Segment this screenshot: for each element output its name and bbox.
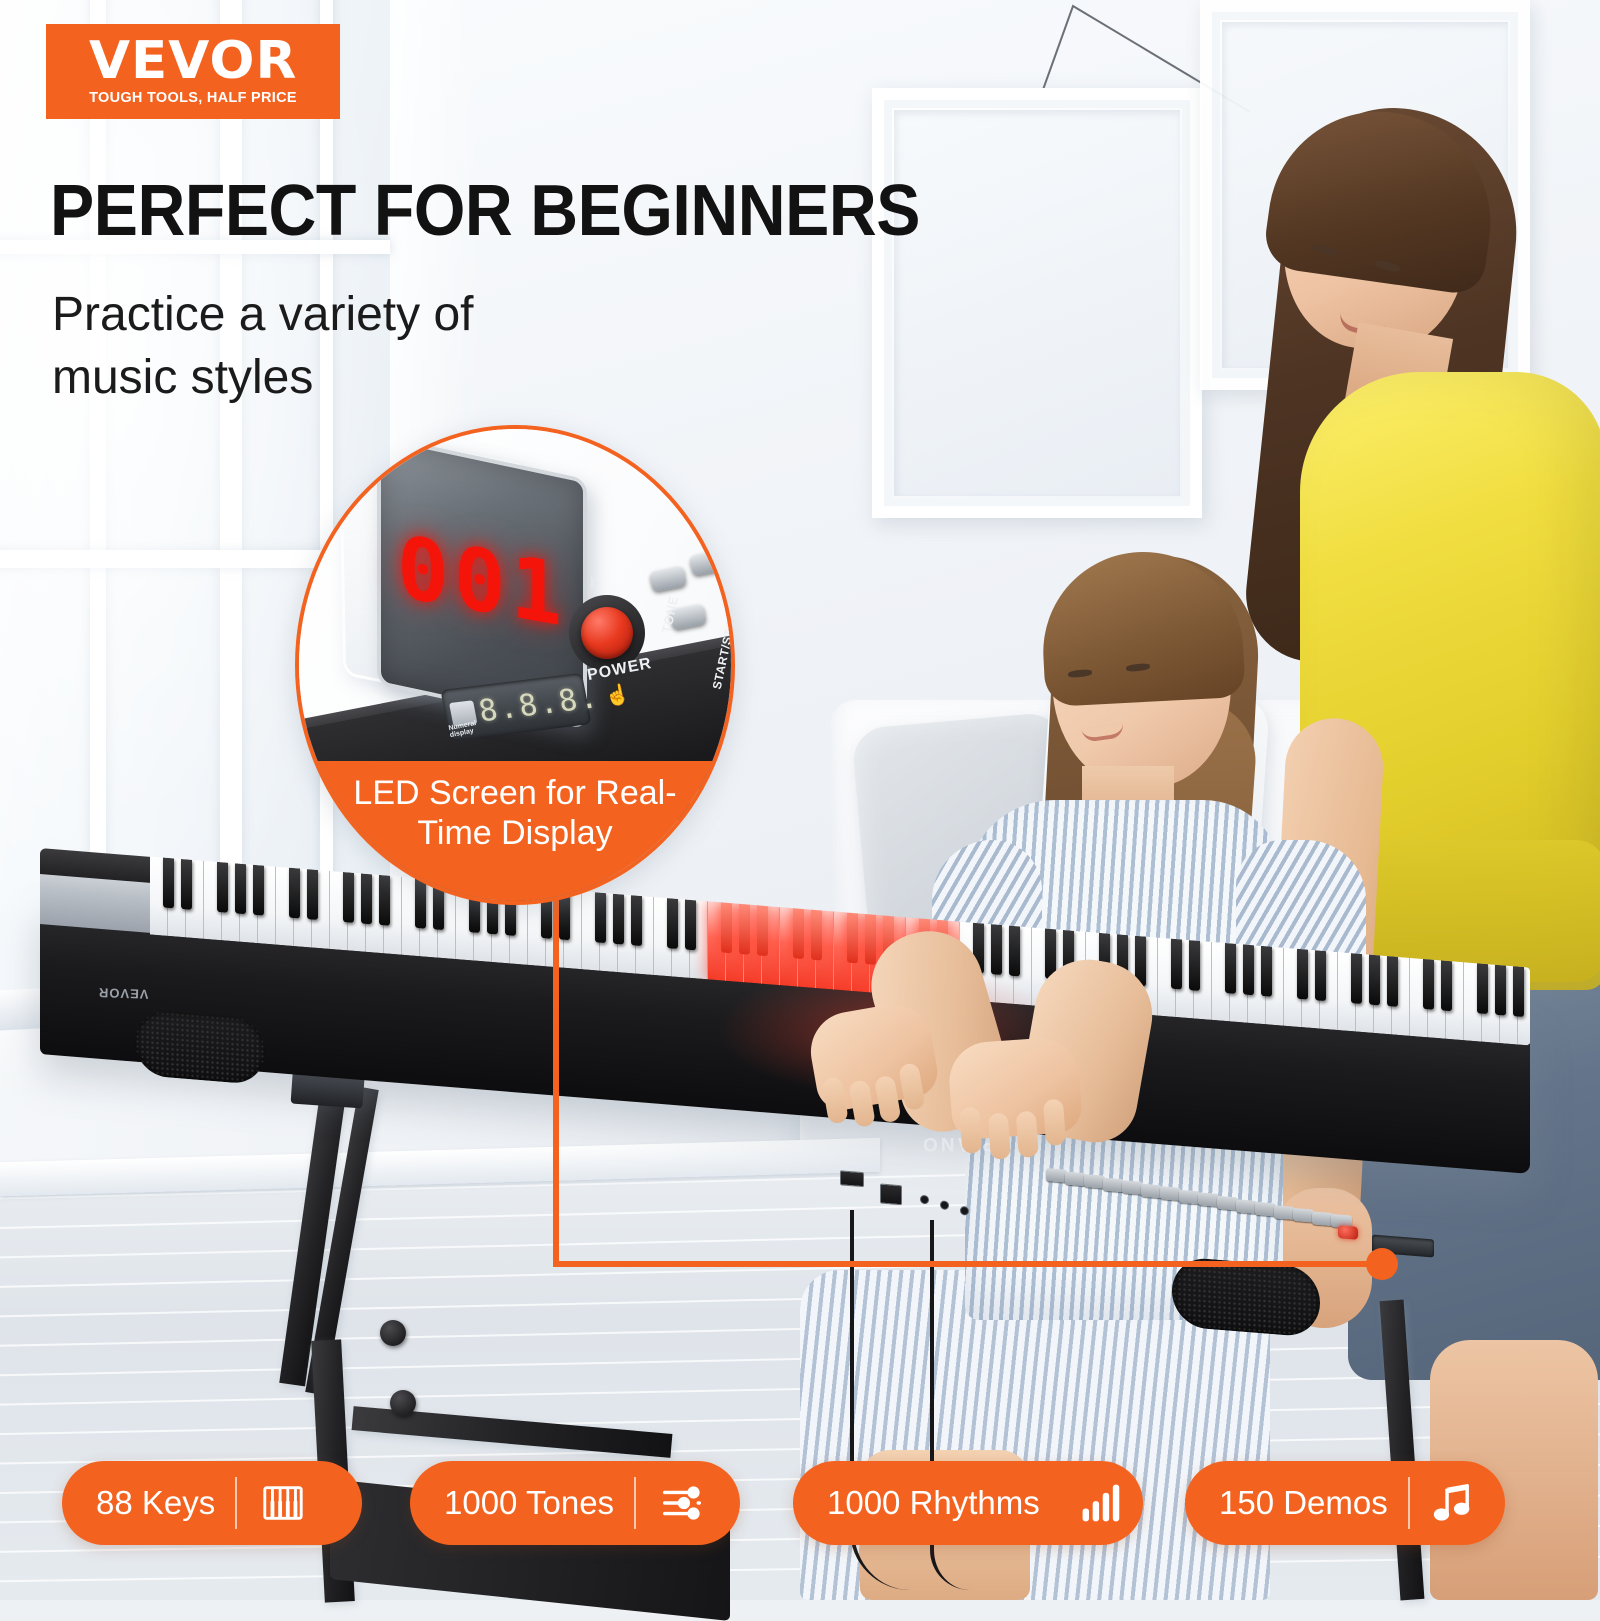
numeral-display-segments: 8.8.8. (476, 680, 602, 729)
keyboard-function-button[interactable] (1312, 1211, 1333, 1226)
piano-black-key[interactable] (1261, 946, 1272, 997)
keyboard-function-button[interactable] (1122, 1180, 1143, 1195)
keyboard-function-button[interactable] (1179, 1190, 1200, 1205)
piano-black-key[interactable] (757, 905, 768, 956)
girl-hand-right (947, 1036, 1083, 1141)
callout-leader-vertical (553, 900, 559, 1265)
keyboard-function-button[interactable] (1084, 1174, 1105, 1189)
piano-black-key[interactable] (721, 902, 732, 953)
piano-black-key[interactable] (163, 857, 174, 908)
keyboard-function-button[interactable] (1141, 1183, 1162, 1198)
piano-black-key[interactable] (1495, 965, 1506, 1016)
music-notes-icon (1428, 1475, 1479, 1531)
feature-badges: 88 Keys 1000 Tones 1000 Rhythms (0, 1448, 1600, 1558)
piano-black-key[interactable] (1351, 953, 1362, 1004)
logo-wordmark: VEVOR (89, 37, 297, 87)
keyboard-function-button[interactable] (1198, 1193, 1219, 1208)
callout-power-button[interactable] (581, 607, 633, 659)
picture-frame (872, 88, 1202, 518)
digital-piano (0, 900, 1560, 1320)
callout-caption-text: LED Screen for Real-Time Display (345, 773, 685, 853)
piano-black-key[interactable] (685, 899, 696, 950)
speaker-grille-left (135, 1009, 265, 1085)
callout-leader-horizontal (553, 1261, 1385, 1267)
usb-a-port[interactable] (840, 1170, 864, 1187)
piano-black-key[interactable] (1369, 955, 1380, 1006)
page-subheadline: Practice a variety of music styles (52, 283, 612, 410)
led-value: 001 (397, 517, 567, 647)
badge-label: 88 Keys (96, 1484, 235, 1522)
power-symbol-icon: ⏵ (589, 573, 599, 596)
audio-jack[interactable] (920, 1195, 929, 1205)
piano-black-key[interactable] (739, 904, 750, 955)
stand-adjust-knob[interactable] (390, 1390, 416, 1416)
piano-black-key[interactable] (1513, 966, 1524, 1017)
hand-press-icon: ☝ (603, 681, 633, 709)
badge-150-demos: 150 Demos (1185, 1461, 1505, 1545)
bar-levels-icon (1078, 1475, 1122, 1531)
badge-1000-tones: 1000 Tones (410, 1461, 740, 1545)
piano-black-key[interactable] (217, 862, 228, 913)
callout-leader-endpoint (1366, 1248, 1398, 1280)
piano-black-key[interactable] (1189, 940, 1200, 991)
sliders-icon (654, 1475, 710, 1531)
badge-label: 150 Demos (1219, 1484, 1408, 1522)
callout-circle: 001 TONE START/STOP ⏵ POWER 8.8.8. ☝ Num… (295, 425, 735, 905)
keyboard-function-button[interactable] (1255, 1202, 1276, 1217)
piano-black-key[interactable] (181, 859, 192, 910)
piano-black-key[interactable] (1171, 939, 1182, 990)
audio-jack[interactable] (960, 1206, 969, 1216)
page-headline: PERFECT FOR BEGINNERS (50, 175, 920, 247)
piano-black-key[interactable] (1315, 950, 1326, 1001)
badge-label: 1000 Tones (444, 1484, 634, 1522)
piano-black-key[interactable] (865, 914, 876, 965)
piano-black-key[interactable] (235, 863, 246, 914)
piano-black-key[interactable] (1243, 944, 1254, 995)
piano-black-key[interactable] (1387, 956, 1398, 1007)
piano-black-key[interactable] (847, 913, 858, 964)
badge-88-keys: 88 Keys (62, 1461, 362, 1545)
piano-black-key[interactable] (811, 910, 822, 961)
stand-adjust-knob[interactable] (380, 1320, 406, 1346)
keyboard-function-button[interactable] (1103, 1177, 1124, 1192)
badge-label: 1000 Rhythms (827, 1484, 1060, 1522)
speaker-grille-right (1172, 1256, 1320, 1338)
piano-black-key[interactable] (991, 924, 1002, 975)
keyboard-function-button[interactable] (1065, 1171, 1086, 1186)
keyboard-function-button[interactable] (1236, 1199, 1257, 1214)
piano-black-key[interactable] (1441, 960, 1452, 1011)
piano-black-key[interactable] (1477, 963, 1488, 1014)
piano-black-key[interactable] (1009, 926, 1020, 977)
logo-tagline: TOUGH TOOLS, HALF PRICE (89, 90, 297, 106)
badge-1000-rhythms: 1000 Rhythms (793, 1461, 1143, 1545)
piano-black-key[interactable] (1423, 959, 1434, 1010)
keyboard-power-button[interactable] (1338, 1225, 1358, 1240)
piano-black-key[interactable] (667, 898, 678, 949)
usb-b-port[interactable] (880, 1184, 902, 1206)
piano-black-key[interactable] (1297, 949, 1308, 1000)
keyboard-brand-mark: VEVOR (98, 985, 149, 1002)
audio-jack[interactable] (940, 1200, 949, 1210)
piano-black-key[interactable] (253, 865, 264, 916)
piano-black-key[interactable] (793, 908, 804, 959)
keyboard-function-button[interactable] (1274, 1205, 1295, 1220)
keyboard-function-button[interactable] (1160, 1186, 1181, 1201)
led-screen-callout: 001 TONE START/STOP ⏵ POWER 8.8.8. ☝ Num… (295, 425, 735, 905)
piano-black-key[interactable] (1225, 943, 1236, 994)
keyboard-function-button[interactable] (1217, 1196, 1238, 1211)
keyboard-function-button[interactable] (1046, 1168, 1067, 1183)
piano-keys-icon (255, 1475, 311, 1531)
keyboard-function-button[interactable] (1293, 1208, 1314, 1223)
vevor-logo: VEVOR TOUGH TOOLS, HALF PRICE (46, 24, 340, 119)
